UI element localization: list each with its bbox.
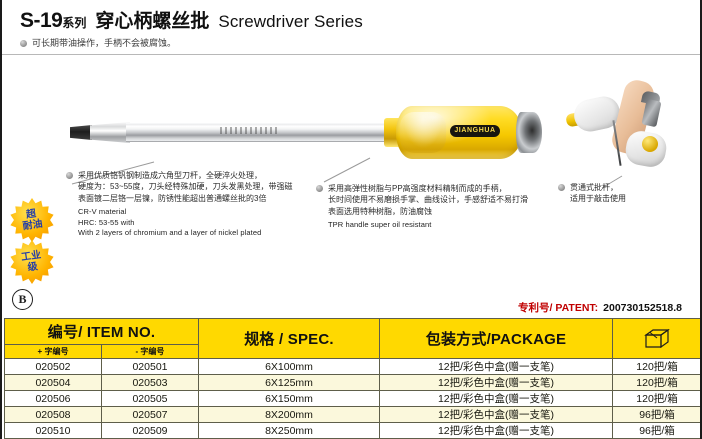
carton-box-icon	[644, 328, 670, 350]
feature-line: 长时间使用不易磨损手掌、曲线设计，手感舒适不易打滑	[316, 194, 566, 205]
row-carton: 96把/箱	[613, 423, 702, 439]
page-header: S-19系列穿心柄螺丝批Screwdriver Series 可长期带油操作，手…	[2, 0, 700, 55]
bullet-icon	[20, 40, 27, 47]
catalog-page: S-19系列穿心柄螺丝批Screwdriver Series 可长期带油操作，手…	[0, 0, 702, 439]
header-subtitle-text: 可长期带油操作，手柄不会被腐蚀。	[32, 38, 176, 48]
badge-text: 超 耐油	[16, 208, 49, 233]
table-row: 0205040205036X125mm12把/彩色中盒(赠一支笔)120把/箱	[5, 375, 702, 391]
badge-super-oil-resistant: 超 耐油	[10, 198, 54, 242]
row-item-no-minus: 020505	[102, 391, 199, 407]
row-spec: 8X250mm	[199, 423, 380, 439]
feature-line: 采用优质铬钒钢制造成六角型刀杆，全硬淬火处理，	[66, 170, 316, 181]
feature-en-line: HRC: 53-55 with	[78, 218, 316, 229]
product-series-label: 系列	[62, 16, 86, 30]
col-header-item-no: 编号/ ITEM NO.	[5, 319, 199, 345]
feature-line: 适用于敲击使用	[558, 193, 698, 204]
table-row: 0205080205078X200mm12把/彩色中盒(赠一支笔)96把/箱	[5, 407, 702, 423]
page-section-mark: B	[12, 289, 33, 310]
feature-callout-through-shaft: 贯通式批杆， 适用于敲击使用	[558, 182, 698, 205]
specification-table: 编号/ ITEM NO. 规格 / SPEC. 包装方式/PACKAGE + 字…	[4, 318, 702, 439]
row-package: 12把/彩色中盒(赠一支笔)	[380, 391, 613, 407]
feature-line: 硬度为：53~55度，刀头经特殊加硬，刀头发黑处理，带强磁	[66, 181, 316, 192]
inset-strike-point	[642, 136, 658, 152]
screwdriver-product-image: JIANGHUA	[70, 104, 540, 162]
row-spec: 6X150mm	[199, 391, 380, 407]
hammer-strike-illustration	[558, 74, 694, 170]
feature-text: 采用高弹性树脂与PP高强度材料精制而成的手柄，	[328, 184, 507, 193]
row-carton: 120把/箱	[613, 359, 702, 375]
feature-line: 采用高弹性树脂与PP高强度材料精制而成的手柄，	[316, 183, 566, 194]
row-item-no-minus: 020509	[102, 423, 199, 439]
row-item-no-plus: 020502	[5, 359, 102, 375]
row-package: 12把/彩色中盒(赠一支笔)	[380, 407, 613, 423]
page-title: S-19系列穿心柄螺丝批Screwdriver Series	[20, 6, 363, 33]
patent-label: 专利号/ PATENT:	[518, 302, 598, 314]
feature-en-line: With 2 layers of chromium and a layer of…	[78, 228, 316, 239]
feature-en-block: TPR handle super oil resistant	[316, 220, 566, 231]
header-subtitle: 可长期带油操作，手柄不会被腐蚀。	[20, 36, 176, 49]
bullet-icon	[316, 185, 323, 192]
row-item-no-minus: 020507	[102, 407, 199, 423]
table-head: 编号/ ITEM NO. 规格 / SPEC. 包装方式/PACKAGE + 字…	[5, 319, 702, 359]
row-item-no-plus: 020506	[5, 391, 102, 407]
product-model: S-19	[20, 9, 62, 32]
table-header-row-main: 编号/ ITEM NO. 规格 / SPEC. 包装方式/PACKAGE	[5, 319, 702, 345]
table-row: 0205100205098X250mm12把/彩色中盒(赠一支笔)96把/箱	[5, 423, 702, 439]
feature-callout-handle: 采用高弹性树脂与PP高强度材料精制而成的手柄， 长时间使用不易磨损手掌、曲线设计…	[316, 183, 566, 231]
col-header-item-no-plus: + 字编号	[5, 345, 102, 359]
row-item-no-plus: 020510	[5, 423, 102, 439]
shaft-marking	[220, 127, 280, 134]
row-package: 12把/彩色中盒(赠一支笔)	[380, 375, 613, 391]
badge-industrial-grade: 工业 级	[10, 240, 54, 284]
feature-en-block: CR-V material HRC: 53-55 with With 2 lay…	[66, 207, 316, 239]
feature-line: 表面选用特种树脂，防油腐蚀	[316, 206, 566, 217]
row-item-no-plus: 020504	[5, 375, 102, 391]
col-header-item-no-minus: - 字编号	[102, 345, 199, 359]
row-spec: 6X125mm	[199, 375, 380, 391]
row-item-no-minus: 020501	[102, 359, 199, 375]
row-carton: 120把/箱	[613, 375, 702, 391]
feature-text: 采用优质铬钒钢制造成六角型刀杆，全硬淬火处理，	[78, 171, 262, 180]
feature-text: 贯通式批杆，	[570, 183, 618, 192]
feature-line: 贯通式批杆，	[558, 182, 698, 193]
row-package: 12把/彩色中盒(赠一支笔)	[380, 423, 613, 439]
product-name-en: Screwdriver Series	[218, 12, 362, 31]
bullet-icon	[558, 184, 565, 191]
screwdriver-blade-tip	[70, 125, 92, 140]
patent-line: 专利号/ PATENT:200730152518.8	[518, 300, 682, 315]
badge-line-2: 耐油	[22, 218, 43, 232]
row-item-no-plus: 020508	[5, 407, 102, 423]
screwdriver-strike-cap	[516, 112, 542, 153]
product-name-cn: 穿心柄螺丝批	[95, 11, 209, 32]
col-header-package: 包装方式/PACKAGE	[380, 319, 613, 359]
badge-text: 工业 级	[16, 250, 49, 275]
table-body: 0205020205016X100mm12把/彩色中盒(赠一支笔)120把/箱0…	[5, 359, 702, 439]
row-carton: 120把/箱	[613, 391, 702, 407]
patent-number: 200730152518.8	[603, 302, 682, 314]
feature-line: 表面镀二层铬一层镍，防锈性能超出普通螺丝批的3倍	[66, 193, 316, 204]
screwdriver-blade-neck	[90, 122, 130, 143]
table-row: 0205020205016X100mm12把/彩色中盒(赠一支笔)120把/箱	[5, 359, 702, 375]
row-carton: 96把/箱	[613, 407, 702, 423]
badge-line-2: 级	[27, 260, 38, 272]
row-spec: 6X100mm	[199, 359, 380, 375]
feature-en-line: TPR handle super oil resistant	[328, 220, 566, 231]
col-header-spec: 规格 / SPEC.	[199, 319, 380, 359]
handle-grip-section	[400, 112, 446, 153]
handle-brand-logo: JIANGHUA	[450, 125, 500, 137]
row-spec: 8X200mm	[199, 407, 380, 423]
feature-en-line: CR-V material	[78, 207, 316, 218]
bullet-icon	[66, 172, 73, 179]
row-package: 12把/彩色中盒(赠一支笔)	[380, 359, 613, 375]
table-row: 0205060205056X150mm12把/彩色中盒(赠一支笔)120把/箱	[5, 391, 702, 407]
feature-callout-blade: 采用优质铬钒钢制造成六角型刀杆，全硬淬火处理， 硬度为：53~55度，刀头经特殊…	[66, 170, 316, 239]
col-header-carton	[613, 319, 702, 359]
row-item-no-minus: 020503	[102, 375, 199, 391]
